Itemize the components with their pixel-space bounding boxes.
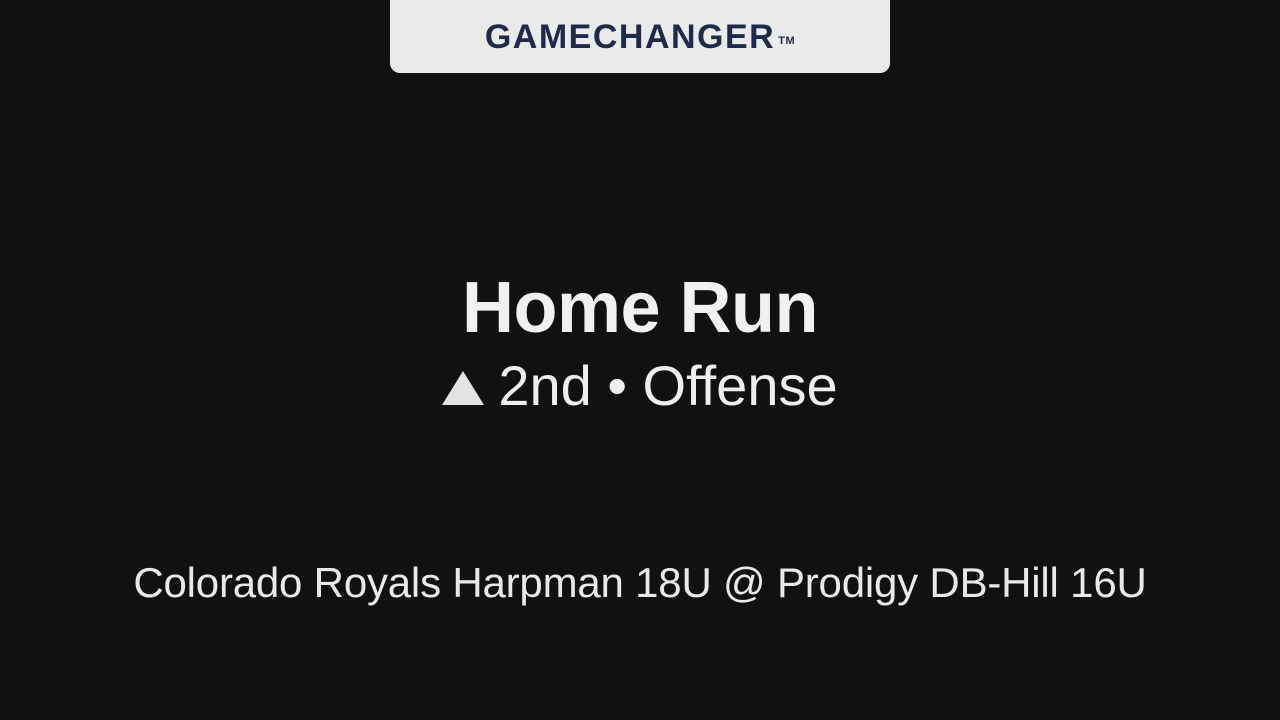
- play-meta-row: 2nd • Offense: [0, 358, 1280, 414]
- play-meta-text: 2nd • Offense: [498, 358, 837, 414]
- video-overlay-screen: GAMECHANGER TM Home Run 2nd • Offense Co…: [0, 0, 1280, 720]
- triangle-up-icon: [442, 371, 484, 405]
- play-title: Home Run: [0, 272, 1280, 344]
- trademark-icon: TM: [778, 36, 795, 47]
- gamechanger-logo: GAMECHANGER TM: [485, 20, 795, 54]
- matchup-label: Colorado Royals Harpman 18U @ Prodigy DB…: [0, 560, 1280, 606]
- brand-wordmark-text: GAMECHANGER: [485, 20, 775, 54]
- gamechanger-brand-badge: GAMECHANGER TM: [390, 0, 890, 73]
- play-summary: Home Run 2nd • Offense: [0, 272, 1280, 414]
